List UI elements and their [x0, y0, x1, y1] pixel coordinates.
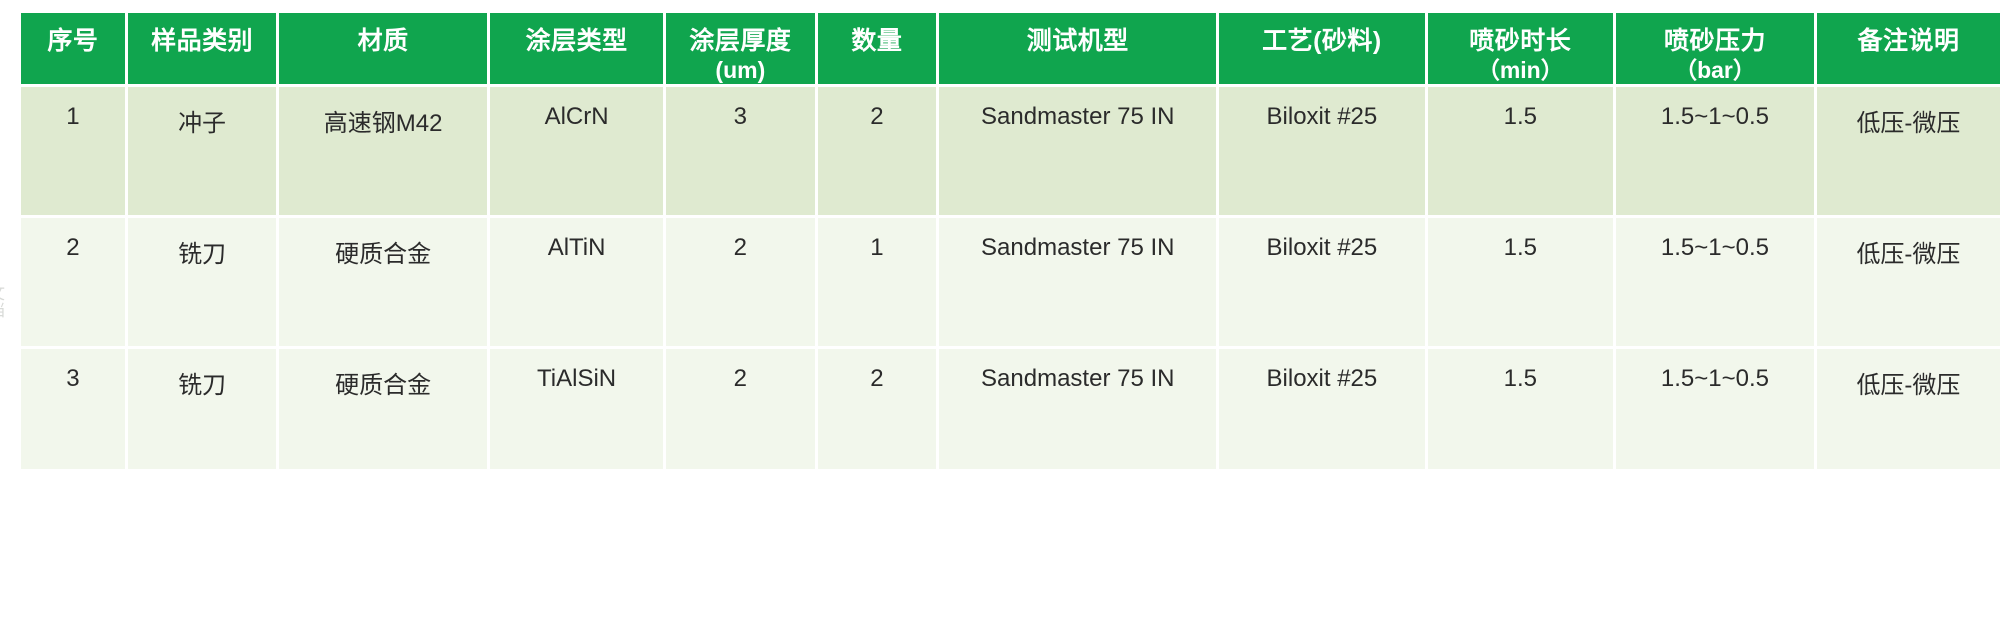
cell-material[interactable]: 硬质合金	[279, 218, 487, 346]
column-header-sample-type[interactable]: 样品类别	[128, 13, 276, 84]
header-label-coating-type: 涂层类型	[526, 27, 628, 55]
column-header-coating-type[interactable]: 涂层类型	[490, 13, 663, 84]
cell-blast-pressure[interactable]: 1.5~1~0.5	[1616, 218, 1814, 346]
header-label-remark: 备注说明	[1857, 27, 1959, 55]
cell-process-media[interactable]: Biloxit #25	[1219, 87, 1424, 215]
cell-blast-pressure[interactable]: 1.5~1~0.5	[1616, 349, 1814, 469]
header-label-blast-pressure: 喷砂压力	[1664, 27, 1766, 55]
column-header-material[interactable]: 材质	[279, 13, 487, 84]
cell-material[interactable]: 高速钢M42	[279, 87, 487, 215]
cell-quantity[interactable]: 1	[818, 218, 937, 346]
header-unit-coating-thickness: (um)	[668, 57, 812, 84]
cell-coating-thickness[interactable]: 3	[666, 87, 814, 215]
column-header-blast-time[interactable]: 喷砂时长（min）	[1428, 13, 1614, 84]
cell-remark[interactable]: 低压-微压	[1817, 218, 2000, 346]
table-row[interactable]: 1 冲子 高速钢M42 AlCrN 3 2 Sandmaster 75 IN B…	[21, 87, 2000, 215]
cell-test-machine[interactable]: Sandmaster 75 IN	[939, 218, 1216, 346]
cell-index[interactable]: 3	[21, 349, 125, 469]
cell-coating-thickness[interactable]: 2	[666, 349, 814, 469]
header-label-blast-time: 喷砂时长	[1469, 27, 1571, 55]
cell-sample-type[interactable]: 铣刀	[128, 349, 276, 469]
column-header-coating-thickness[interactable]: 涂层厚度(um)	[666, 13, 814, 84]
header-label-material: 材质	[358, 27, 409, 55]
column-header-test-machine[interactable]: 测试机型	[939, 13, 1216, 84]
cell-blast-time[interactable]: 1.5	[1428, 87, 1614, 215]
cell-quantity[interactable]: 2	[818, 349, 937, 469]
cell-sample-type[interactable]: 铣刀	[128, 218, 276, 346]
column-header-process-media[interactable]: 工艺(砂料)	[1219, 13, 1424, 84]
table-row[interactable]: 2 铣刀 硬质合金 AlTiN 2 1 Sandmaster 75 IN Bil…	[21, 218, 2000, 346]
spreadsheet-canvas: 文档 序号 样品类别 材质 涂层类型 涂层厚度(um) 数量 测试机型 工艺(砂…	[0, 0, 2015, 637]
edge-watermark: 文档	[0, 284, 9, 376]
table-header: 序号 样品类别 材质 涂层类型 涂层厚度(um) 数量 测试机型 工艺(砂料) …	[21, 13, 2000, 84]
cell-process-media[interactable]: Biloxit #25	[1219, 218, 1424, 346]
sample-parameters-table: 序号 样品类别 材质 涂层类型 涂层厚度(um) 数量 测试机型 工艺(砂料) …	[18, 10, 2003, 472]
cell-blast-pressure[interactable]: 1.5~1~0.5	[1616, 87, 1814, 215]
cell-coating-type[interactable]: AlCrN	[490, 87, 663, 215]
header-label-sample-type: 样品类别	[151, 27, 253, 55]
column-header-blast-pressure[interactable]: 喷砂压力（bar）	[1616, 13, 1814, 84]
table-row[interactable]: 3 铣刀 硬质合金 TiAlSiN 2 2 Sandmaster 75 IN B…	[21, 349, 2000, 469]
column-header-index[interactable]: 序号	[21, 13, 125, 84]
cell-blast-time[interactable]: 1.5	[1428, 349, 1614, 469]
header-unit-blast-pressure: （bar）	[1618, 57, 1812, 84]
cell-blast-time[interactable]: 1.5	[1428, 218, 1614, 346]
cell-test-machine[interactable]: Sandmaster 75 IN	[939, 349, 1216, 469]
header-label-test-machine: 测试机型	[1027, 27, 1129, 55]
cell-index[interactable]: 1	[21, 87, 125, 215]
header-label-coating-thickness: 涂层厚度	[689, 27, 791, 55]
cell-sample-type[interactable]: 冲子	[128, 87, 276, 215]
cell-coating-thickness[interactable]: 2	[666, 218, 814, 346]
cell-coating-type[interactable]: AlTiN	[490, 218, 663, 346]
header-label-quantity: 数量	[851, 27, 902, 55]
cell-material[interactable]: 硬质合金	[279, 349, 487, 469]
cell-process-media[interactable]: Biloxit #25	[1219, 349, 1424, 469]
header-row: 序号 样品类别 材质 涂层类型 涂层厚度(um) 数量 测试机型 工艺(砂料) …	[21, 13, 2000, 84]
cell-index[interactable]: 2	[21, 218, 125, 346]
cell-quantity[interactable]: 2	[818, 87, 937, 215]
cell-coating-type[interactable]: TiAlSiN	[490, 349, 663, 469]
header-label-process-media: 工艺(砂料)	[1262, 27, 1382, 55]
header-unit-blast-time: （min）	[1430, 57, 1612, 84]
cell-test-machine[interactable]: Sandmaster 75 IN	[939, 87, 1216, 215]
table-body: 1 冲子 高速钢M42 AlCrN 3 2 Sandmaster 75 IN B…	[21, 87, 2000, 469]
column-header-remark[interactable]: 备注说明	[1817, 13, 2000, 84]
header-label-index: 序号	[47, 27, 98, 55]
column-header-quantity[interactable]: 数量	[818, 13, 937, 84]
cell-remark[interactable]: 低压-微压	[1817, 349, 2000, 469]
cell-remark[interactable]: 低压-微压	[1817, 87, 2000, 215]
